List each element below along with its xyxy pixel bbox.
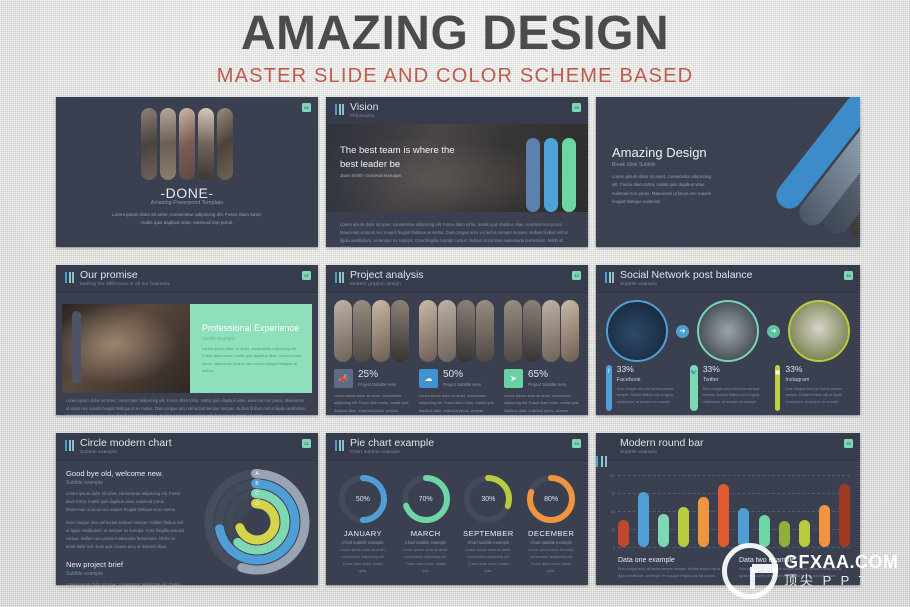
bar <box>618 520 629 547</box>
y-tick-label: 75 <box>611 492 615 496</box>
network-name: Twitter <box>703 377 766 383</box>
metric-value: 33% <box>785 365 850 374</box>
network-body-text: Duis congue arcu vel lectus semper sempe… <box>785 386 850 406</box>
cloud-icon: ☁ <box>419 369 438 388</box>
circle-photo <box>697 300 759 362</box>
quote-text: The best team is where the best leader b… <box>340 144 470 172</box>
photo-pill <box>160 108 176 180</box>
legend-title: Data one example <box>618 557 729 564</box>
block-body-text: Lorem ipsum dolor sit amet, consectetur … <box>66 581 184 585</box>
twitter-icon: 🐦 <box>690 365 697 411</box>
slide-footer-text: Lorem ipsum dolor sit amet, consectetur … <box>340 221 574 247</box>
megaphone-icon: 📣 <box>334 369 353 388</box>
analysis-body-text: Lorem ipsum dolor sit amet, consectetur … <box>419 393 495 415</box>
donut-item: 30% SEPTEMBER Chart subtitle example Lor… <box>459 473 519 575</box>
block-body-text: Lorem ipsum dolor sit amet, consectetur … <box>66 490 184 515</box>
metric-value: 65% <box>528 370 566 380</box>
photo-pill <box>561 300 579 362</box>
analysis-metric-row: ➤ 65% Project Subtitle Here <box>504 369 580 388</box>
photo-pill <box>523 300 541 362</box>
photo-accent-tab <box>72 311 81 383</box>
accent-bars <box>526 138 576 212</box>
photo-pill <box>438 300 456 362</box>
slide-header: Modern round bar Subtitle example <box>596 433 860 461</box>
donut-label: JANUARY <box>333 529 393 538</box>
legend-item: Data one example Duis congue arcu vel le… <box>618 557 729 579</box>
photo-pill-strip <box>504 300 580 362</box>
social-stat-item: 🐦 33% Twitter Duis congue arcu vel lectu… <box>690 365 765 411</box>
block-title: Good bye old, welcome new. <box>66 469 184 478</box>
slide-title: Project analysis <box>350 269 424 281</box>
photo-pill <box>476 300 494 362</box>
slide-subtitle: Making the difference in all our busines… <box>80 281 170 286</box>
social-stat-item: f 33% Facebook Duis congue arcu vel lect… <box>606 365 681 411</box>
slide-thumbnail-break[interactable]: Amazing Design Break Slide Subtitle Lore… <box>596 97 860 247</box>
header-bars-icon <box>65 440 76 451</box>
analysis-metric-row: 📣 25% Project Subtitle Here <box>334 369 410 388</box>
network-name: Facebook <box>617 377 682 383</box>
legend-body: Duis congue arcu vel lectus semper sempe… <box>618 566 729 579</box>
slide-title: Pie chart example <box>350 437 434 449</box>
header-bars-icon <box>335 104 346 115</box>
watermark-brand: GFXAA.COM <box>784 552 899 573</box>
slide-subtitle: Break Slide Subtitle <box>612 162 656 168</box>
slide-footer-text: Lorem ipsum dolor sit amet, consectetur … <box>66 397 308 415</box>
donut-label: SEPTEMBER <box>459 529 519 538</box>
donut-caption: Chart subtitle example <box>521 540 581 545</box>
series-label-c: C <box>251 489 263 498</box>
donut-value: 30% <box>462 473 514 525</box>
circle-flow: ➜ ➜ <box>606 301 850 361</box>
instagram-icon: ▣ <box>775 365 781 411</box>
slide-body-text: Lorem ipsum dolor sit amet, consectetur … <box>612 173 717 206</box>
slide-subtitle: Amazing Powerpoint Template <box>56 200 318 206</box>
g-logo-icon <box>722 543 778 599</box>
slide-thumbnail-social-network[interactable]: Social Network post balance Subtitle exa… <box>596 265 860 415</box>
photo-pill <box>391 300 409 362</box>
analysis-column: 📣 25% Project Subtitle Here Lorem ipsum … <box>334 300 410 415</box>
slide-header: Our promise Making the difference in all… <box>56 265 318 293</box>
slide-header: Project analysis Modern graphic design <box>326 265 588 293</box>
network-name: Instagram <box>785 377 850 383</box>
photo-pill <box>141 108 157 180</box>
watermark-tagline: 顶尖 P P T <box>784 573 899 590</box>
bar <box>698 497 709 547</box>
series-label-b: B <box>251 479 263 488</box>
card-title: Professional Experience <box>202 323 299 333</box>
photo-pill <box>457 300 475 362</box>
bar <box>658 514 669 547</box>
photo-pill <box>334 300 352 362</box>
donut-label: DECEMBER <box>521 529 581 538</box>
donut-label: MARCH <box>396 529 456 538</box>
analysis-body-text: Lorem ipsum dolor sit amet, consectetur … <box>504 393 580 415</box>
metric-label: Project Subtitle Here <box>443 382 481 387</box>
block-subtitle: Subtitle example <box>66 480 184 486</box>
slide-number-badge: 07 <box>302 271 311 280</box>
photo-pill <box>504 300 522 362</box>
slide-number-badge: 03 <box>572 103 581 112</box>
slide-number-badge: 22 <box>302 439 311 448</box>
arrow-right-icon: ➜ <box>767 325 780 338</box>
photo-pill-strip <box>141 108 233 180</box>
donut-body-text: Lorem ipsum dolor sit amet, consectetur … <box>459 547 519 575</box>
watermark: GFXAA.COM 顶尖 P P T <box>718 535 910 607</box>
photo-pill-strip <box>419 300 495 362</box>
slide-thumbnail-pie-chart[interactable]: Pie chart example Chart subtitle example… <box>326 433 588 585</box>
slide-header: Vision Philosophy <box>326 97 588 125</box>
slide-title: Social Network post balance <box>620 269 753 281</box>
donut-item: 50% JANUARY Chart subtitle example Lorem… <box>333 473 393 575</box>
donut-ring: 30% <box>462 473 514 525</box>
donut-caption: Chart subtitle example <box>459 540 519 545</box>
slide-title: Circle modern chart <box>80 437 172 449</box>
donut-ring: 50% <box>337 473 389 525</box>
series-label-d: D <box>251 499 263 508</box>
highlight-card: Professional Experience Subtitle Example… <box>190 304 312 393</box>
photo-pill <box>179 108 195 180</box>
circle-modern-chart: A B C D <box>202 467 312 577</box>
slide-header: Social Network post balance Subtitle exa… <box>596 265 860 293</box>
series-label-a: A <box>251 469 263 478</box>
slide-subtitle: Subtitle example <box>620 281 657 286</box>
header-bars-icon <box>605 272 616 283</box>
diagonal-stripes <box>596 97 860 247</box>
slide-header: Pie chart example Chart subtitle example <box>326 433 588 461</box>
metric-value: 33% <box>617 365 682 374</box>
bar <box>678 507 689 547</box>
social-stat-item: ▣ 33% Instagram Duis congue arcu vel lec… <box>775 365 850 411</box>
donut-ring: 80% <box>525 473 577 525</box>
photo-pill <box>217 108 233 180</box>
photo-pill-strip <box>334 300 410 362</box>
page-subtitle: MASTER SLIDE AND COLOR SCHEME BASED <box>0 65 910 88</box>
accent-bar <box>562 138 576 212</box>
metric-label: Project Subtitle Here <box>358 382 396 387</box>
card-subtitle: Subtitle Example <box>202 336 235 341</box>
slide-title: -DONE- <box>56 185 318 201</box>
slide-thumbnail-our-promise[interactable]: Our promise Making the difference in all… <box>56 265 318 415</box>
analysis-body-text: Lorem ipsum dolor sit amet, consectetur … <box>334 393 410 415</box>
donut-ring: 70% <box>400 473 452 525</box>
slide-number-badge: 26 <box>844 439 853 448</box>
quote-attribution: Jane Smith- General Manager <box>340 173 402 178</box>
analysis-columns: 📣 25% Project Subtitle Here Lorem ipsum … <box>334 300 580 415</box>
circle-chart-text-column: Good bye old, welcome new. Subtitle exam… <box>66 469 184 585</box>
network-body-text: Duis congue arcu vel lectus semper sempe… <box>617 386 682 406</box>
photo-pill <box>419 300 437 362</box>
donut-caption: Chart subtitle example <box>396 540 456 545</box>
arrow-right-icon: ➜ <box>676 325 689 338</box>
slide-number-badge: 04 <box>302 103 311 112</box>
circle-photo <box>788 300 850 362</box>
metric-label: Project Subtitle Here <box>528 382 566 387</box>
slide-subtitle: Modern graphic design <box>350 281 401 286</box>
slide-grid: 04 -DONE- Amazing Powerpoint Template Lo… <box>56 97 860 585</box>
slide-body-text: Lorem ipsum dolor sit amet, consectetur … <box>106 211 268 228</box>
bar <box>638 492 649 547</box>
slide-number-badge: 12 <box>572 271 581 280</box>
donut-value: 80% <box>525 473 577 525</box>
donut-item: 70% MARCH Chart subtitle example Lorem i… <box>396 473 456 575</box>
slide-photo <box>62 304 192 393</box>
analysis-column: ☁ 50% Project Subtitle Here Lorem ipsum … <box>419 300 495 415</box>
slide-thumbnail-project-analysis[interactable]: Project analysis Modern graphic design 1… <box>326 265 588 415</box>
analysis-metric-row: ☁ 50% Project Subtitle Here <box>419 369 495 388</box>
y-tick-label: 0 <box>613 546 615 550</box>
y-tick-label: 100 <box>609 474 615 478</box>
paper-plane-icon: ➤ <box>504 369 523 388</box>
donut-value: 70% <box>400 473 452 525</box>
network-body-text: Duis congue arcu vel lectus semper sempe… <box>703 386 766 406</box>
photo-pill <box>198 108 214 180</box>
donut-caption: Chart subtitle example <box>333 540 393 545</box>
slide-subtitle: Subtitle example <box>620 449 657 454</box>
slide-subtitle: Philosophy <box>350 113 374 118</box>
slide-header: Circle modern chart Subtitle example <box>56 433 318 461</box>
facebook-icon: f <box>606 365 612 411</box>
metric-value: 25% <box>358 370 396 380</box>
metric-value: 33% <box>703 365 766 374</box>
slide-thumbnail-done[interactable]: 04 -DONE- Amazing Powerpoint Template Lo… <box>56 97 318 247</box>
header-bars-icon <box>65 272 76 283</box>
header-bars-icon <box>335 272 346 283</box>
social-stats: f 33% Facebook Duis congue arcu vel lect… <box>606 365 850 411</box>
header-bars-icon <box>335 440 346 451</box>
block-subtitle: Subtitle example <box>66 571 184 577</box>
donut-body-text: Lorem ipsum dolor sit amet, consectetur … <box>333 547 393 575</box>
slide-title: Amazing Design <box>612 145 707 160</box>
donut-chart-row: 50% JANUARY Chart subtitle example Lorem… <box>333 473 581 575</box>
slide-subtitle: Chart subtitle example <box>350 449 400 454</box>
slide-title: Our promise <box>80 269 138 281</box>
slide-number-badge: 24 <box>572 439 581 448</box>
photo-pill <box>542 300 560 362</box>
donut-body-text: Lorem ipsum dolor sit amet, consectetur … <box>396 547 456 575</box>
slide-number-badge: 16 <box>844 271 853 280</box>
donut-item: 80% DECEMBER Chart subtitle example Lore… <box>521 473 581 575</box>
accent-bar <box>544 138 558 212</box>
y-tick-label: 25 <box>611 528 615 532</box>
y-tick-label: 50 <box>611 510 615 514</box>
metric-value: 50% <box>443 370 481 380</box>
donut-body-text: Lorem ipsum dolor sit amet, consectetur … <box>521 547 581 575</box>
photo-pill <box>372 300 390 362</box>
analysis-column: ➤ 65% Project Subtitle Here Lorem ipsum … <box>504 300 580 415</box>
page-title: AMAZING DESIGN <box>0 8 910 61</box>
block-title: New project brief <box>66 560 184 569</box>
accent-bar <box>526 138 540 212</box>
slide-thumbnail-vision[interactable]: Vision Philosophy 03 The best team is wh… <box>326 97 588 247</box>
hero-heading-block: AMAZING DESIGN MASTER SLIDE AND COLOR SC… <box>0 8 910 88</box>
card-body-text: Lorem ipsum dolor sit amet, consectetur … <box>202 345 302 375</box>
block-body-text: Duis congue arcu vel lectus semper sempe… <box>66 519 184 552</box>
donut-value: 50% <box>337 473 389 525</box>
slide-thumbnail-circle-chart[interactable]: Circle modern chart Subtitle example 22 … <box>56 433 318 585</box>
circle-photo <box>606 300 668 362</box>
slide-subtitle: Subtitle example <box>80 449 117 454</box>
header-bars-icon <box>596 440 607 467</box>
slide-title: Vision <box>350 101 378 113</box>
photo-pill <box>353 300 371 362</box>
slide-title: Modern round bar <box>620 437 703 449</box>
